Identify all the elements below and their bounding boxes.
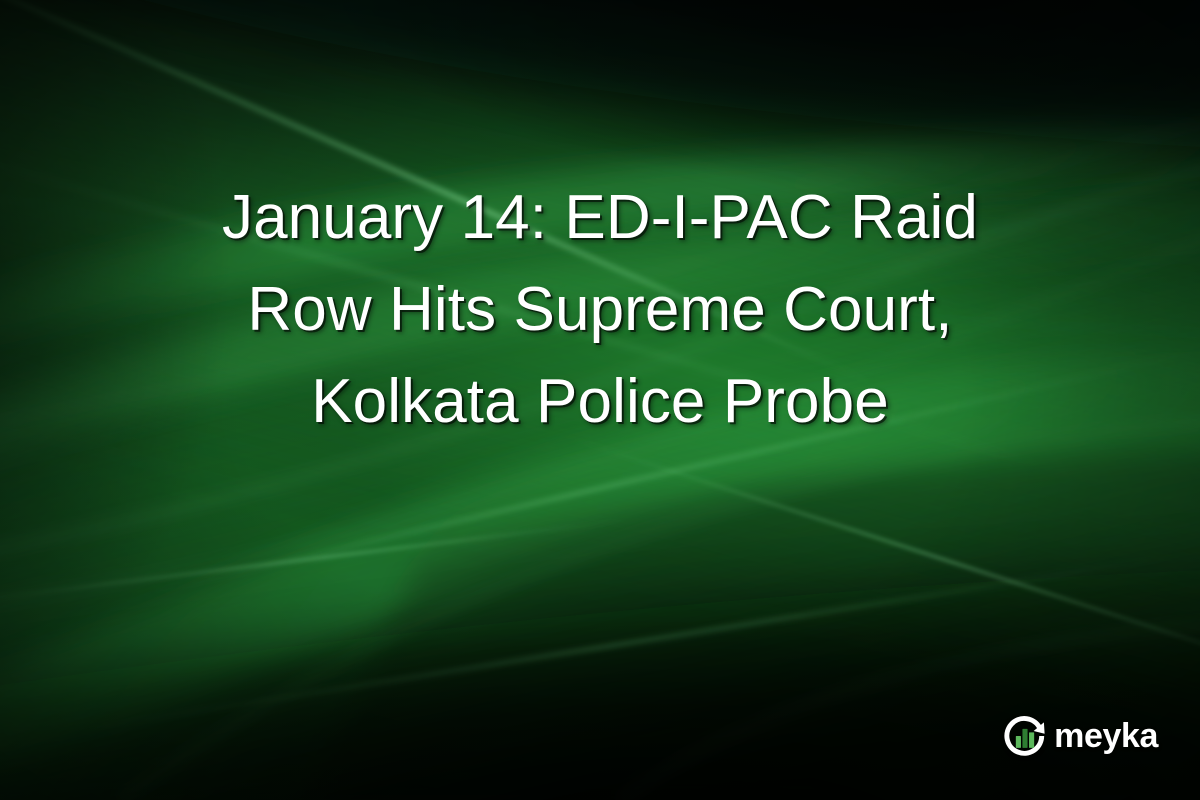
headline-line-2: Row Hits Supreme Court, [48,264,1152,356]
headline-line-3: Kolkata Police Probe [48,356,1152,448]
headline-line-1: January 14: ED-I-PAC Raid [48,172,1152,264]
social-share-card: January 14: ED-I-PAC Raid Row Hits Supre… [0,0,1200,800]
brand-wordmark: meyka [1054,719,1158,753]
brand-logo: meyka [1003,714,1158,758]
headline: January 14: ED-I-PAC Raid Row Hits Supre… [0,172,1200,448]
meyka-circular-bar-chart-logo-icon [1003,714,1047,758]
